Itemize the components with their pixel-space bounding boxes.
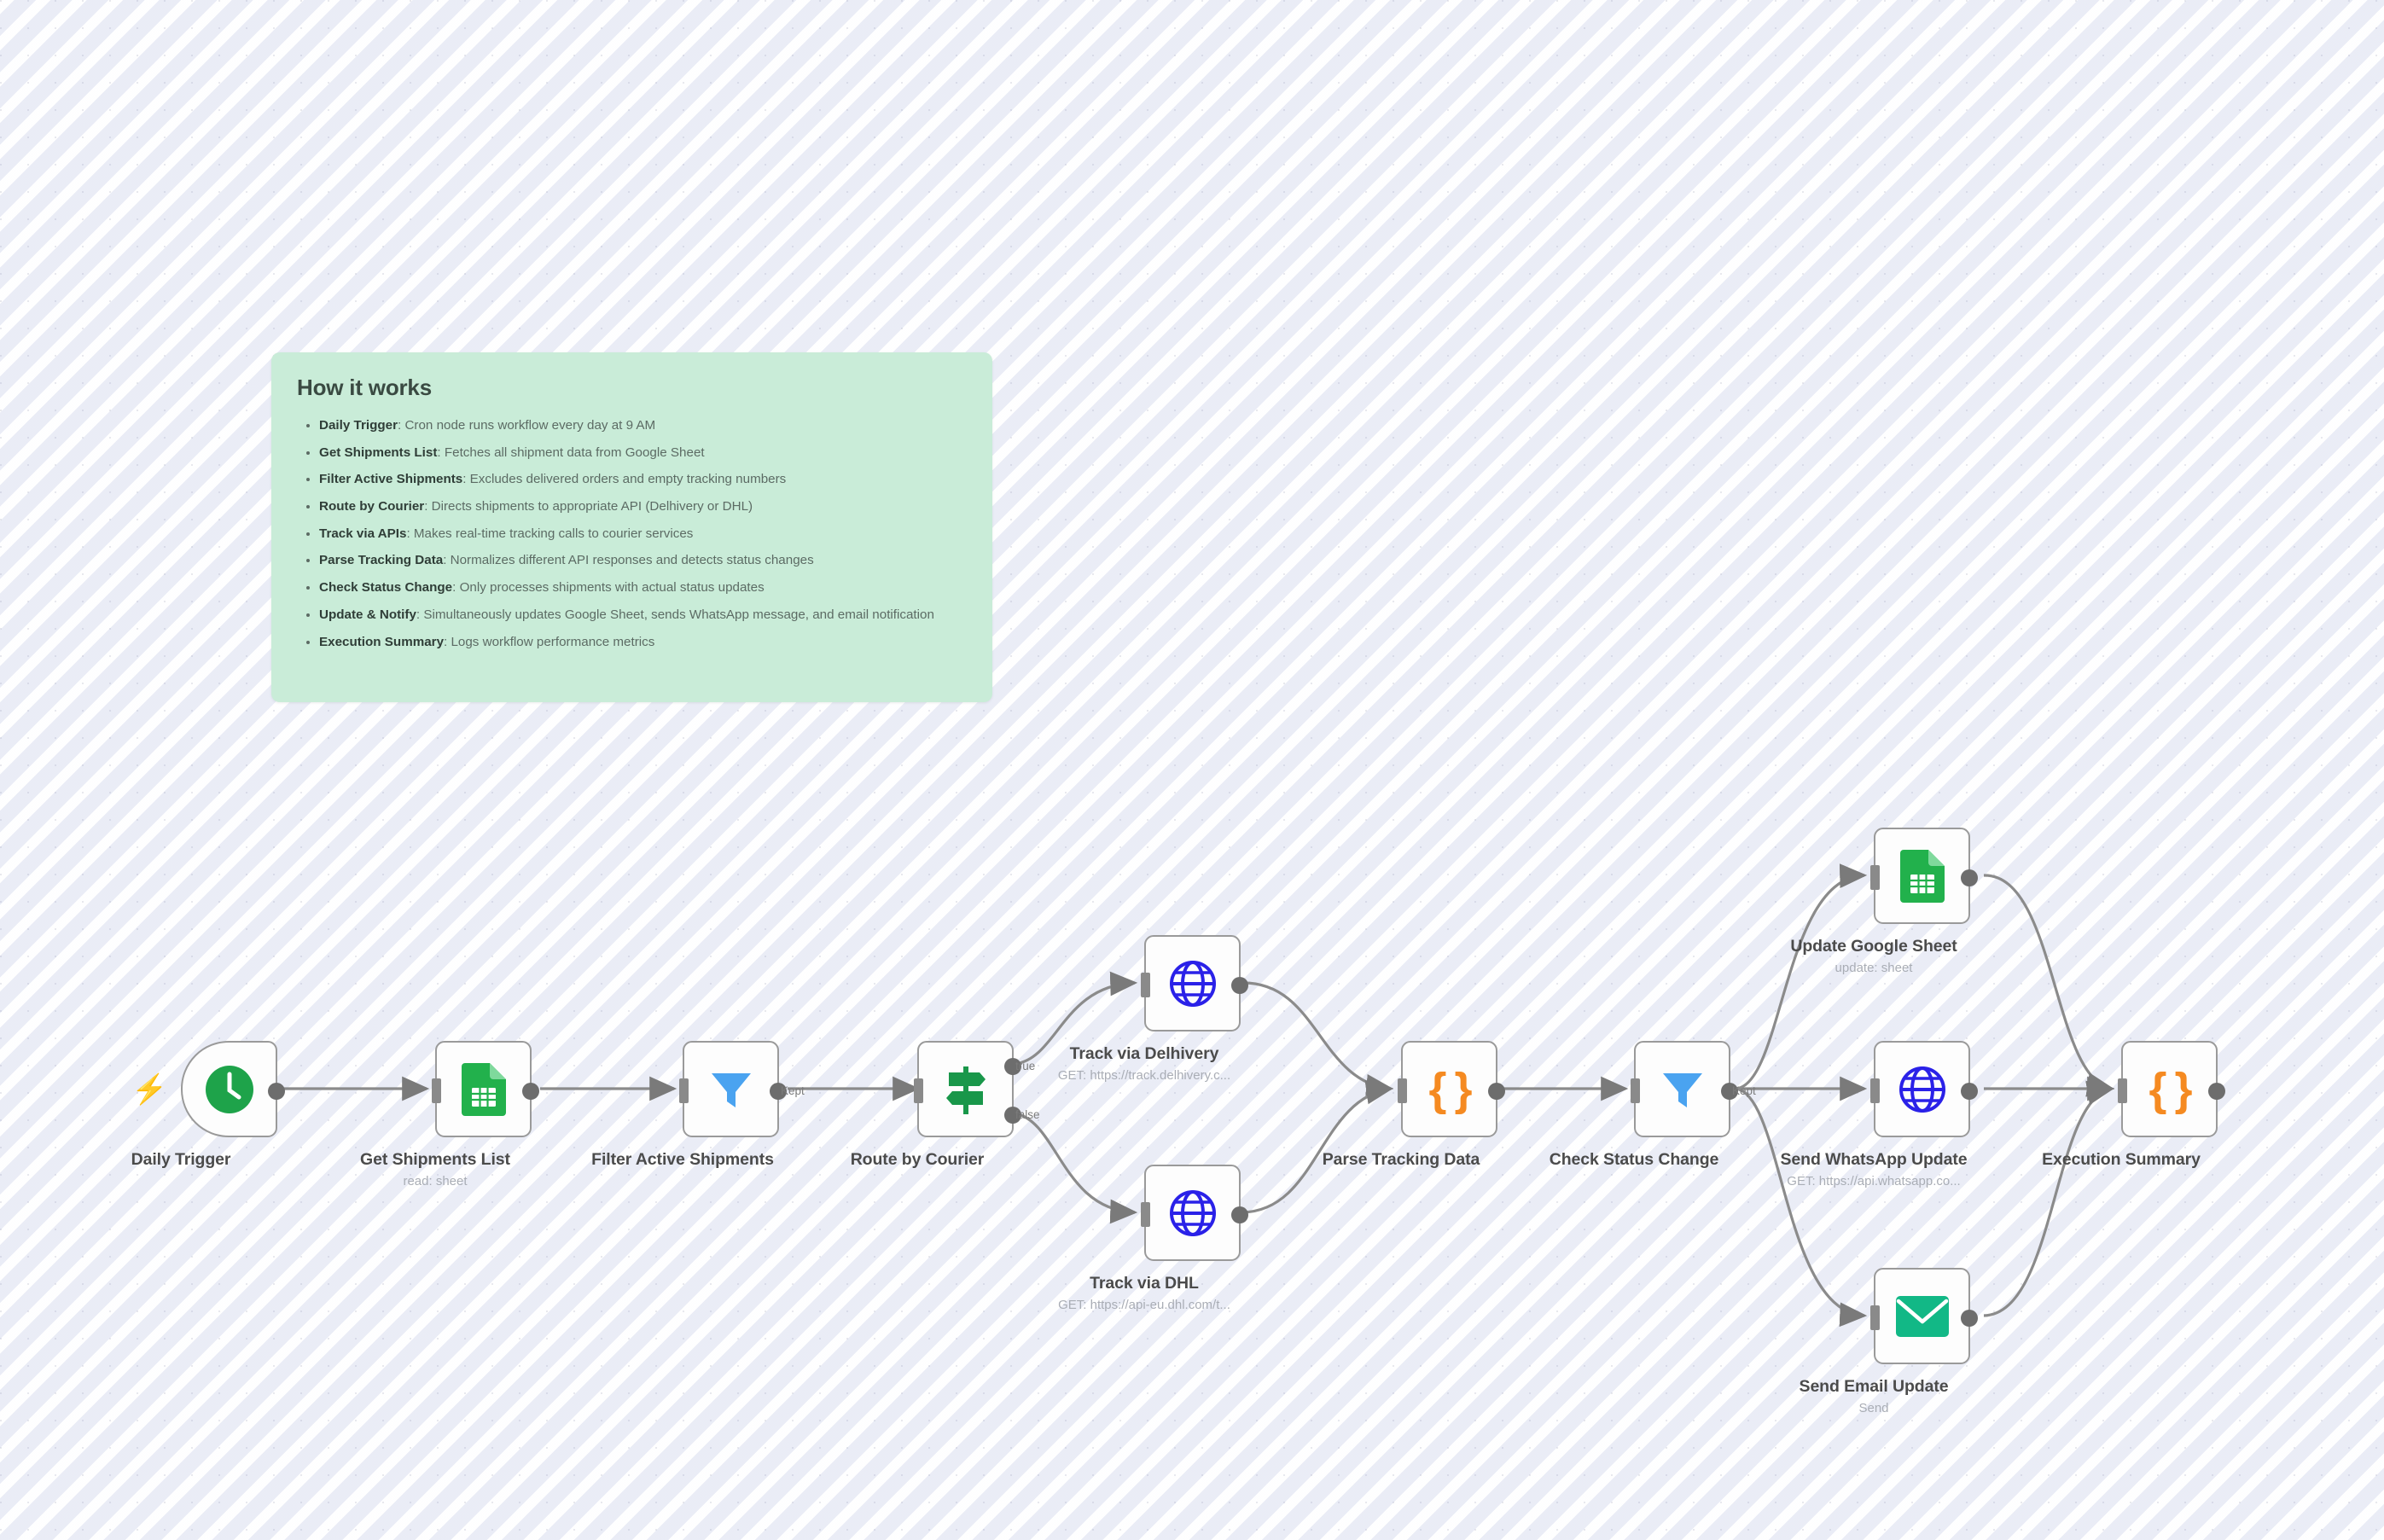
node-label: Execution Summary [2042,1150,2201,1170]
list-item: Daily Trigger: Cron node runs workflow e… [319,416,967,435]
node-subtitle: Send [1858,1401,1888,1415]
node-label: Route by Courier [851,1150,985,1170]
node-subtitle: read: sheet [403,1174,467,1188]
globe-icon [1168,1188,1218,1238]
email-icon [1896,1296,1949,1337]
node-label: Send WhatsApp Update [1780,1150,1967,1170]
signpost-icon [942,1063,990,1116]
list-item: Check Status Change: Only processes ship… [319,578,967,597]
output-port[interactable] [268,1083,285,1100]
list-item: Track via APIs: Makes real-time tracking… [319,525,967,543]
clock-icon [203,1063,256,1116]
output-port[interactable] [522,1083,539,1100]
node-label: Update Google Sheet [1790,937,1957,956]
node-body[interactable] [1874,1041,1970,1137]
lightning-bolt-icon: ⚡ [131,1075,167,1104]
port-label-kept: Kept [1732,1084,1756,1097]
input-port[interactable] [1870,1305,1880,1330]
input-port[interactable] [914,1078,923,1103]
google-sheets-icon [462,1063,506,1116]
output-port[interactable] [1488,1083,1505,1100]
list-item: Get Shipments List: Fetches all shipment… [319,444,967,462]
sticky-note[interactable]: How it works Daily Trigger: Cron node ru… [271,352,992,702]
node-subtitle: GET: https://track.delhivery.c... [1058,1068,1230,1083]
input-port[interactable] [432,1078,441,1103]
code-braces-icon: { } [2149,1066,2189,1113]
list-item: Execution Summary: Logs workflow perform… [319,633,967,652]
input-port[interactable] [1141,1202,1150,1227]
input-port[interactable] [1141,973,1150,997]
list-item: Filter Active Shipments: Excludes delive… [319,470,967,489]
input-port[interactable] [1631,1078,1640,1103]
node-body[interactable] [1144,935,1241,1032]
node-label: Check Status Change [1550,1150,1719,1170]
code-braces-icon: { } [1428,1066,1469,1113]
output-port[interactable] [1231,1206,1248,1223]
node-label: Daily Trigger [131,1150,231,1170]
node-body[interactable] [181,1041,277,1137]
node-subtitle: GET: https://api-eu.dhl.com/t... [1058,1298,1230,1312]
node-label: Filter Active Shipments [591,1150,774,1170]
input-port[interactable] [1870,1078,1880,1103]
node-label: Track via Delhivery [1070,1044,1219,1064]
filter-icon [1658,1065,1707,1114]
node-body[interactable] [1874,828,1970,924]
output-port[interactable] [1961,1310,1978,1327]
port-label-kept: Kept [781,1084,805,1097]
node-subtitle: update: sheet [1835,961,1913,975]
node-body[interactable]: { } [2121,1041,2218,1137]
output-port[interactable] [1231,977,1248,994]
node-body[interactable]: Kept [1634,1041,1730,1137]
node-subtitle: GET: https://api.whatsapp.co... [1787,1174,1960,1188]
list-item: Route by Courier: Directs shipments to a… [319,497,967,516]
input-port[interactable] [2118,1078,2127,1103]
port-label-true: true [1015,1060,1035,1072]
node-label: Get Shipments List [360,1150,510,1170]
node-body[interactable]: { } [1401,1041,1497,1137]
output-port[interactable] [2208,1083,2225,1100]
node-body[interactable] [1874,1268,1970,1364]
node-body[interactable]: true false [917,1041,1014,1137]
globe-icon [1898,1065,1947,1114]
google-sheets-icon [1900,850,1945,903]
node-body[interactable] [1144,1165,1241,1261]
node-body[interactable] [435,1041,532,1137]
globe-icon [1168,959,1218,1008]
input-port[interactable] [1398,1078,1407,1103]
node-label: Track via DHL [1090,1274,1199,1293]
output-port[interactable] [1961,1083,1978,1100]
sticky-note-list: Daily Trigger: Cron node runs workflow e… [297,416,967,652]
node-label: Parse Tracking Data [1323,1150,1480,1170]
filter-icon [706,1065,756,1114]
node-label: Send Email Update [1800,1377,1949,1397]
input-port[interactable] [1870,865,1880,890]
list-item: Parse Tracking Data: Normalizes differen… [319,551,967,570]
node-body[interactable]: Kept [683,1041,779,1137]
output-port[interactable] [1961,869,1978,886]
port-label-false: false [1015,1108,1040,1121]
sticky-note-title: How it works [297,375,967,401]
list-item: Update & Notify: Simultaneously updates … [319,606,967,625]
input-port[interactable] [679,1078,689,1103]
